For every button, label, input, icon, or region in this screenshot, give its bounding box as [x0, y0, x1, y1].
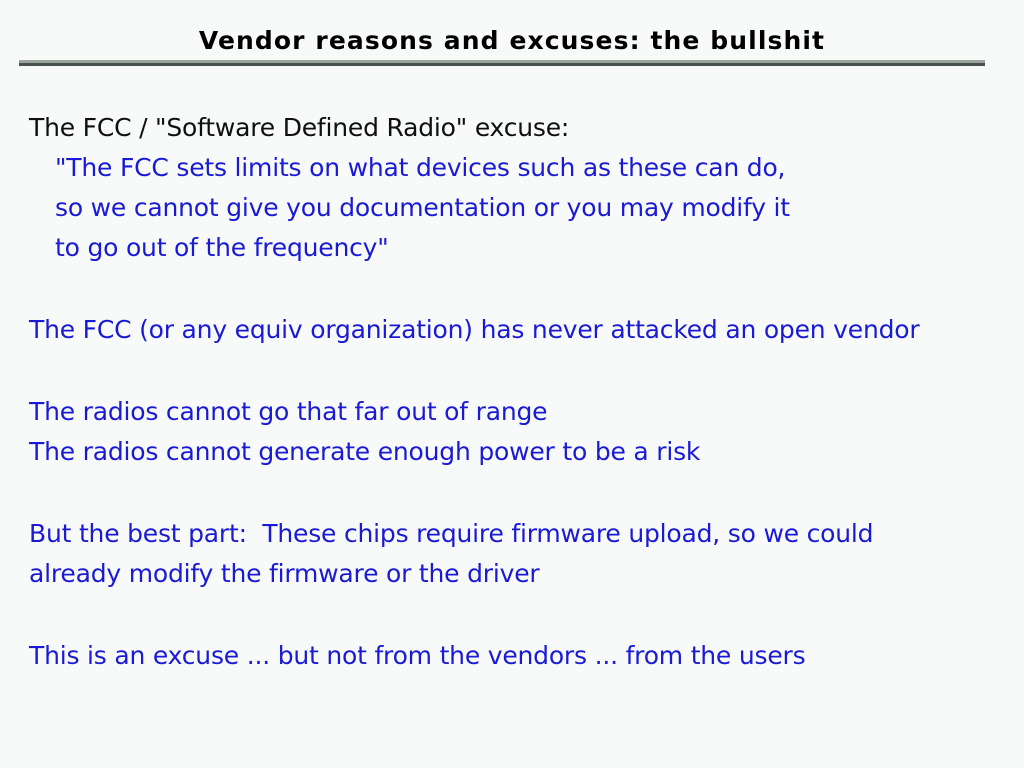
- text-line: so we cannot give you documentation or y…: [29, 188, 999, 228]
- paragraph-fcc-never-attacked: The FCC (or any equiv organization) has …: [29, 310, 999, 350]
- paragraph-excuse-from-users: This is an excuse ... but not from the v…: [29, 636, 999, 676]
- text-line: already modify the firmware or the drive…: [29, 554, 999, 594]
- page-title: Vendor reasons and excuses: the bullshit: [199, 26, 825, 56]
- divider-shadow-band: [19, 63, 985, 66]
- text-line: But the best part: These chips require f…: [29, 514, 999, 554]
- paragraph-firmware-upload-point: But the best part: These chips require f…: [29, 514, 999, 594]
- text-line: The FCC / "Software Defined Radio" excus…: [29, 108, 999, 148]
- paragraph-fcc-sdr-excuse: The FCC / "Software Defined Radio" excus…: [29, 108, 999, 268]
- text-line: "The FCC sets limits on what devices suc…: [29, 148, 999, 188]
- text-line: to go out of the frequency": [29, 228, 999, 268]
- slide-title-bar: Vendor reasons and excuses: the bullshit: [0, 26, 1024, 56]
- title-divider-rule: [19, 60, 985, 66]
- text-line: The radios cannot go that far out of ran…: [29, 392, 999, 432]
- text-line: The radios cannot generate enough power …: [29, 432, 999, 472]
- slide-body: The FCC / "Software Defined Radio" excus…: [29, 108, 999, 676]
- presentation-slide: Vendor reasons and excuses: the bullshit…: [0, 0, 1024, 768]
- text-line: The FCC (or any equiv organization) has …: [29, 310, 999, 350]
- text-line: This is an excuse ... but not from the v…: [29, 636, 999, 676]
- paragraph-radios-limits: The radios cannot go that far out of ran…: [29, 392, 999, 472]
